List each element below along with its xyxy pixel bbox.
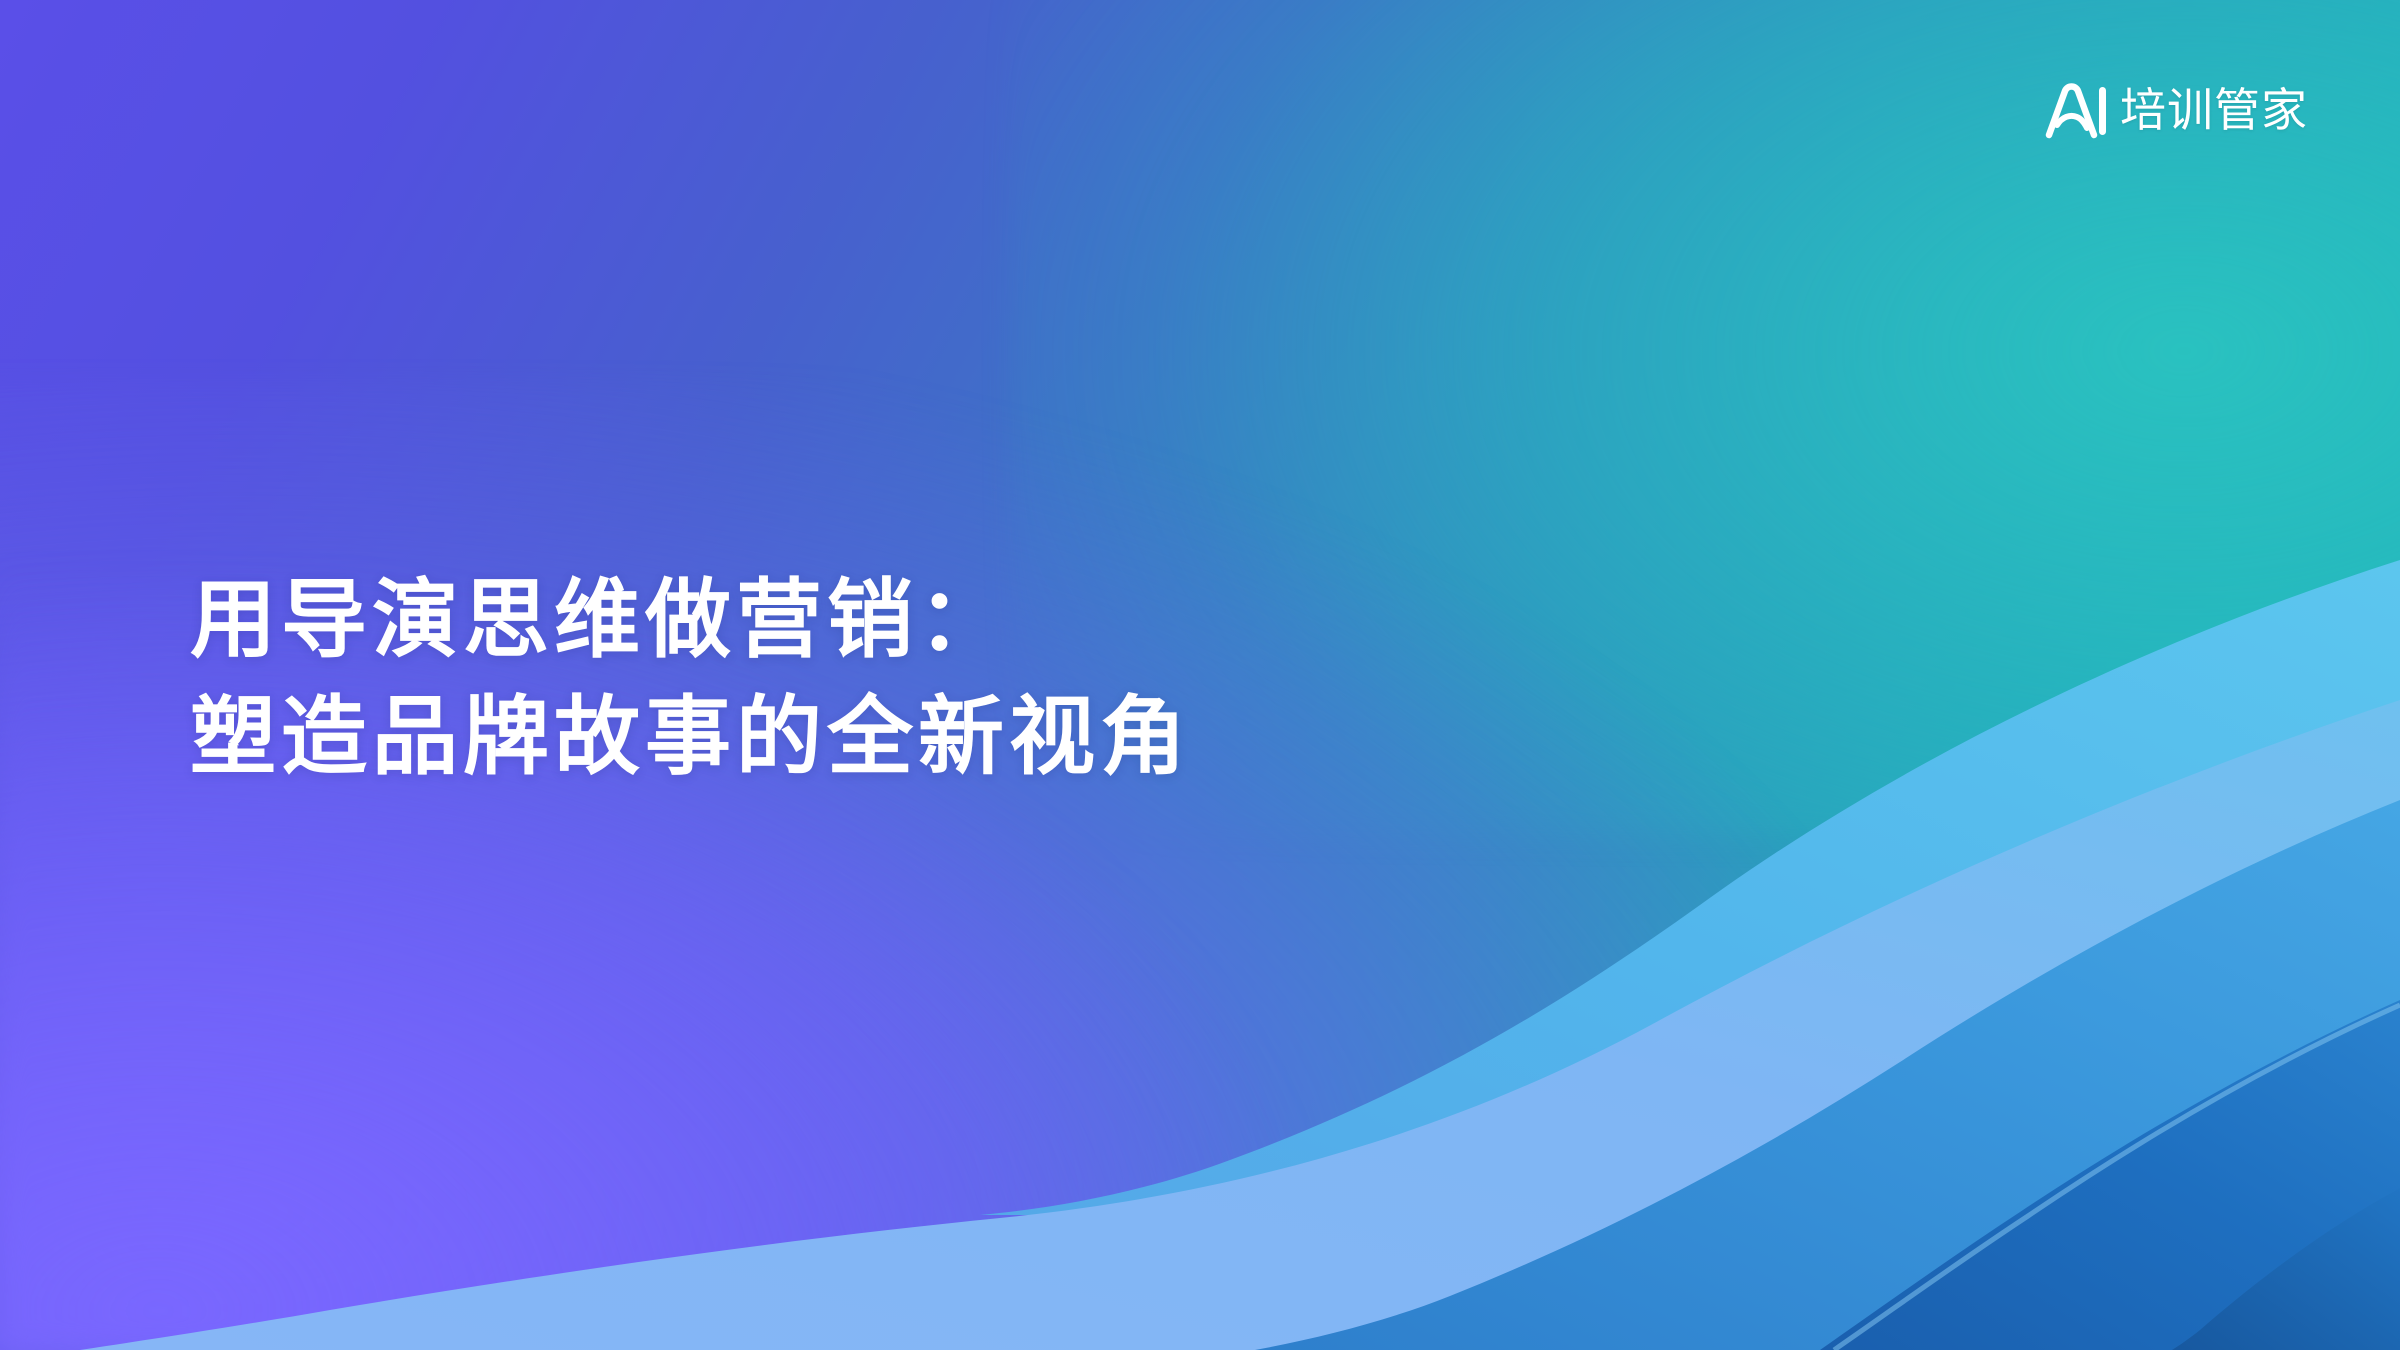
logo-text: 培训管家 (2120, 87, 2308, 133)
presentation-slide: 培训管家 用导演思维做营销： 塑造品牌故事的全新视角 (0, 0, 2400, 1350)
title-line-1: 用导演思维做营销： (190, 575, 1191, 666)
title-line-2: 塑造品牌故事的全新视角 (190, 692, 1191, 783)
logo-letter-a-crossbar (2057, 116, 2087, 128)
ai-logo-mark (2045, 78, 2107, 142)
slide-title: 用导演思维做营销： 塑造品牌故事的全新视角 (190, 575, 1191, 783)
logo-letter-i (2099, 87, 2106, 135)
brand-logo[interactable]: 培训管家 (2045, 78, 2308, 142)
